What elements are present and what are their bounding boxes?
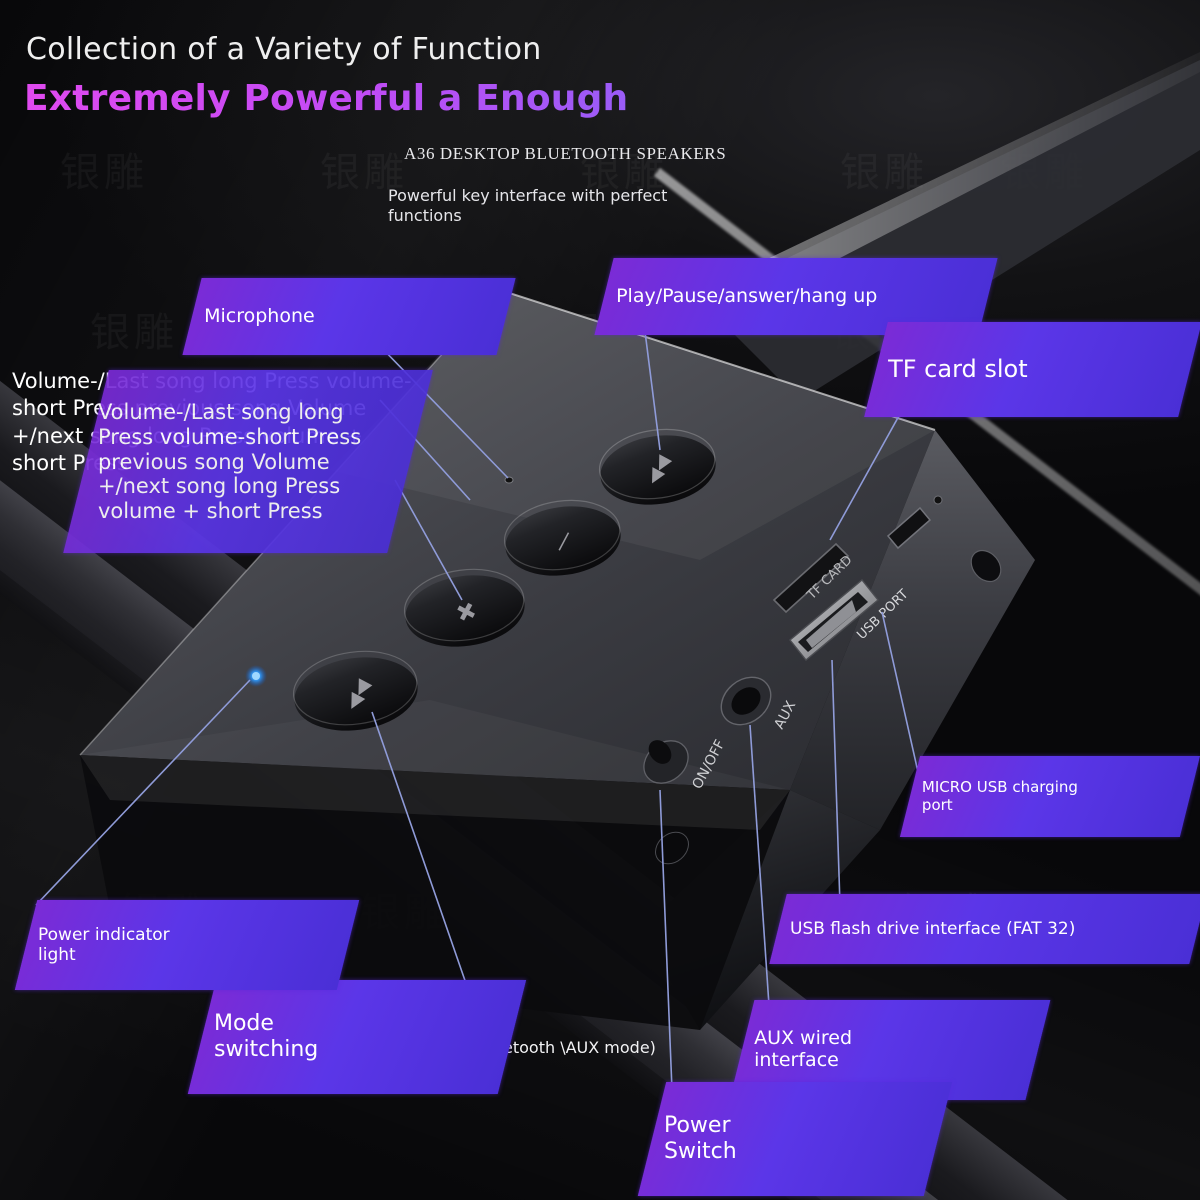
page-subtitle: Extremely Powerful a Enough — [24, 78, 628, 119]
callout-tf-card-slot: TF card slot — [864, 322, 1200, 417]
callout-usb-flash: USB flash drive interface (FAT 32) — [769, 894, 1200, 964]
callout-microphone: Microphone — [182, 278, 515, 355]
callout-power-indicator: Power indicator light — [15, 900, 359, 990]
callout-volume-control: Volume-/Last song long Press volume-shor… — [63, 370, 433, 553]
callout-power-switch: Power Switch — [638, 1082, 952, 1196]
power-indicator-led-core — [252, 672, 260, 680]
product-infographic: 银雕 银雕 银雕 银雕 银雕 银雕 银雕 银雕 银雕 银雕 银雕 银雕 银雕 — [0, 0, 1200, 1200]
model-name: A36 DESKTOP BLUETOOTH SPEAKERS — [404, 144, 726, 164]
callout-micro-usb: MICRO USB charging port — [900, 756, 1200, 837]
callout-mode-switching: Mode switching — [188, 980, 526, 1094]
page-title: Collection of a Variety of Function — [26, 32, 542, 67]
microphone-pinhole — [505, 477, 513, 483]
feature-subtitle: Powerful key interface with perfect func… — [388, 186, 738, 226]
